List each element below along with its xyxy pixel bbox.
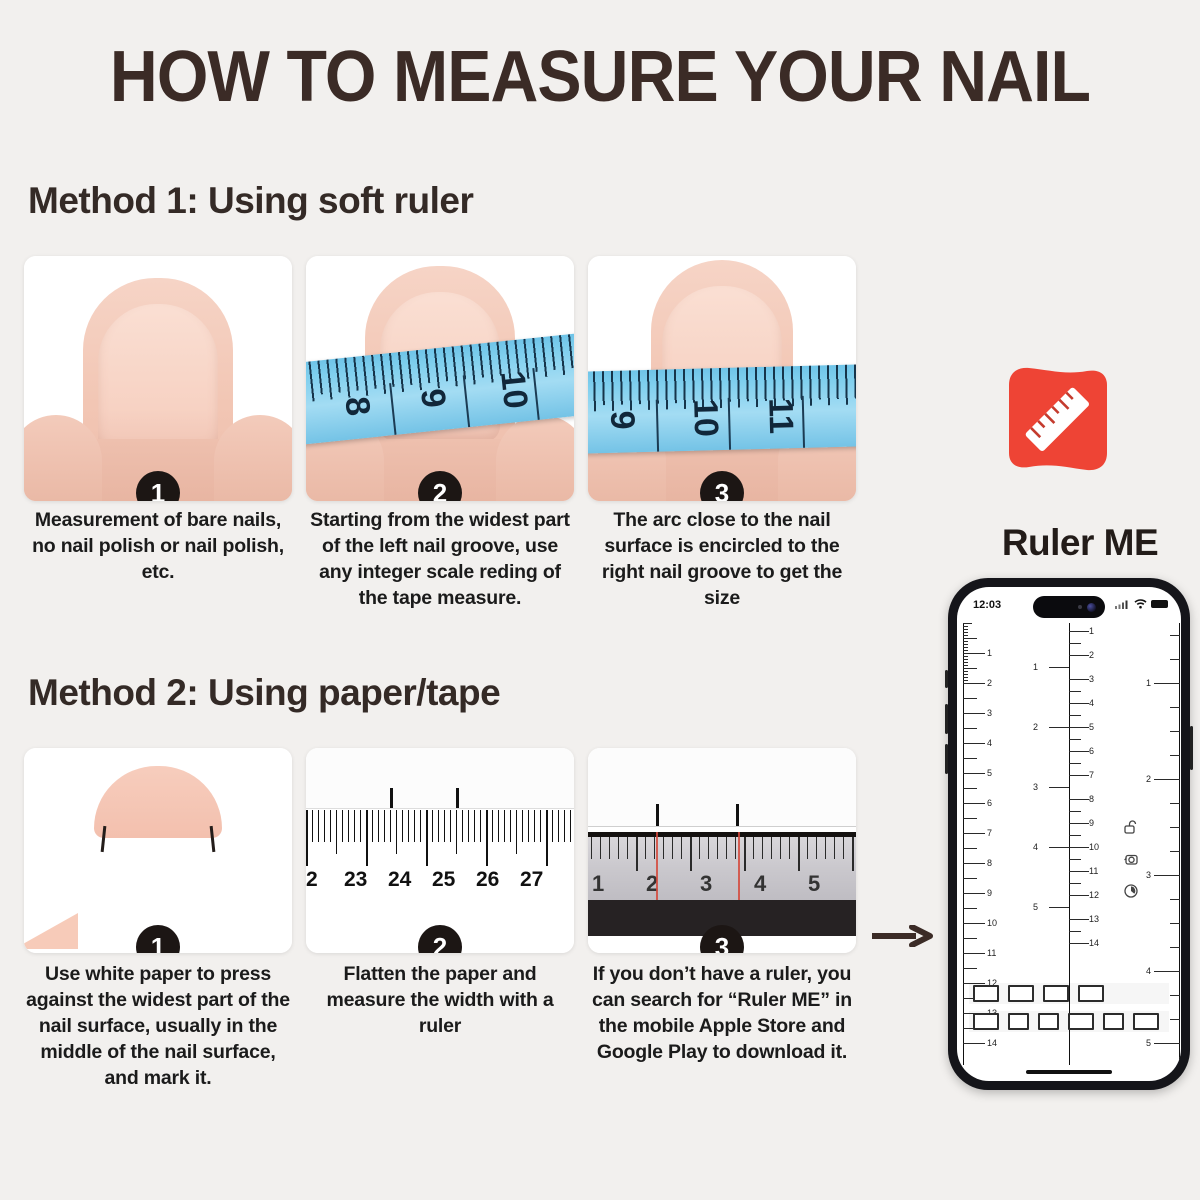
metal-major-ticks — [588, 837, 856, 871]
right-arrow-icon — [872, 925, 936, 947]
tape-number: 8 — [336, 395, 377, 418]
ruler-number: 2 — [306, 868, 318, 892]
measured-chip — [1038, 1013, 1059, 1030]
measured-chip — [1008, 1013, 1029, 1030]
app-tool-icons[interactable] — [1123, 819, 1139, 899]
status-indicators — [1115, 599, 1168, 609]
blue-tape-measure: 9 10 11 — [588, 364, 856, 454]
cellular-signal-icon — [1115, 600, 1130, 609]
method-1-step-2-caption: Starting from the widest part of the lef… — [306, 508, 574, 612]
nail-plate — [98, 304, 218, 454]
metal-ruler: 1 2 3 4 5 — [588, 832, 856, 905]
status-time: 12:03 — [973, 599, 1001, 611]
ruler-spine — [1179, 623, 1180, 1065]
measured-chip — [1103, 1013, 1124, 1030]
method-1-step-3-image-card: 9 10 11 3 — [588, 256, 856, 501]
infographic-page: HOW TO MEASURE YOUR NAIL Method 1: Using… — [0, 0, 1200, 1200]
camera-icon[interactable] — [1123, 851, 1139, 867]
method-1-step-1-caption: Measurement of bare nails, no nail polis… — [24, 508, 292, 612]
method-1-card-row: 1 8 9 10 — [24, 256, 856, 501]
phone-mockup: 12:03 — [948, 578, 1190, 1090]
timer-icon[interactable] — [1123, 883, 1139, 899]
pen-mark — [390, 788, 393, 810]
pen-mark — [456, 788, 459, 810]
ruler-number: 24 — [388, 868, 411, 892]
method-2-step-2-caption: Flatten the paper and measure the width … — [306, 962, 574, 1092]
method-1-step-2-image-card: 8 9 10 2 — [306, 256, 574, 501]
app-name-label: Ruler ME — [960, 522, 1200, 564]
ruler-app-icon[interactable] — [995, 357, 1120, 482]
ruler-number: 25 — [432, 868, 455, 892]
measured-chip — [1043, 985, 1069, 1002]
phone-screen[interactable]: 12:03 — [957, 587, 1181, 1081]
volume-up-button[interactable] — [945, 704, 948, 734]
measured-chip — [1068, 1013, 1094, 1030]
method-1-heading: Method 1: Using soft ruler — [28, 180, 473, 222]
method-1-caption-row: Measurement of bare nails, no nail polis… — [24, 508, 856, 612]
method-2-step-2-image-card: 2 23 24 25 26 27 2 — [306, 748, 574, 953]
home-indicator[interactable] — [1026, 1070, 1112, 1074]
pen-mark — [736, 804, 739, 826]
method-2-step-1-caption: Use white paper to press against the wid… — [24, 962, 292, 1092]
method-2-step-3-caption: If you don’t have a ruler, you can searc… — [588, 962, 856, 1092]
bare-nail-photo — [24, 256, 292, 501]
paper-strip — [588, 748, 856, 827]
method-2-caption-row: Use white paper to press against the wid… — [24, 962, 856, 1092]
nail-impression — [94, 766, 222, 838]
metal-ruler-photo: 1 2 3 4 5 — [588, 748, 856, 953]
tape-number: 11 — [760, 397, 800, 434]
battery-icon — [1151, 600, 1168, 608]
tape-on-thumb-photo: 8 9 10 — [306, 256, 574, 501]
volume-down-button[interactable] — [945, 744, 948, 774]
pen-mark — [656, 804, 659, 826]
method-2-heading: Method 2: Using paper/tape — [28, 672, 500, 714]
tape-wrapped-thumb-photo: 9 10 11 — [588, 256, 856, 501]
ruler-number: 23 — [344, 868, 367, 892]
tape-number: 10 — [685, 399, 725, 438]
tape-number: 9 — [602, 410, 641, 430]
white-paper-photo — [24, 748, 292, 953]
tape-number: 9 — [412, 387, 453, 410]
measured-chip — [1078, 985, 1104, 1002]
dynamic-island — [1033, 596, 1105, 618]
method-1-step-1-image-card: 1 — [24, 256, 292, 501]
ruler-number: 4 — [754, 871, 766, 897]
ruler-number: 3 — [700, 871, 712, 897]
ruler-number: 27 — [520, 868, 543, 892]
page-title: HOW TO MEASURE YOUR NAIL — [48, 36, 1152, 118]
measured-items-row-2 — [969, 1011, 1169, 1032]
finger-corner — [24, 913, 78, 949]
method-1-step-3-caption: The arc close to the nail surface is enc… — [588, 508, 856, 612]
ruler-number: 1 — [592, 871, 604, 897]
method-2-card-row: 1 2 23 24 25 26 27 2 — [24, 748, 856, 953]
measured-items-row-1 — [969, 983, 1169, 1004]
method-2-step-3-image-card: 1 2 3 4 5 3 — [588, 748, 856, 953]
paper-on-ruler-photo: 2 23 24 25 26 27 — [306, 748, 574, 953]
ruler-number: 5 — [808, 871, 820, 897]
unlock-icon[interactable] — [1123, 819, 1139, 835]
measured-chip — [1133, 1013, 1159, 1030]
wifi-icon — [1134, 599, 1147, 609]
method-2-step-1-image-card: 1 — [24, 748, 292, 953]
ruler-major-ticks — [306, 810, 574, 866]
power-button[interactable] — [1190, 726, 1193, 770]
tape-number: 10 — [492, 369, 535, 411]
ruler-number: 26 — [476, 868, 499, 892]
mute-switch[interactable] — [945, 670, 948, 688]
proximity-sensor-icon — [1078, 605, 1082, 609]
measured-chip — [973, 1013, 999, 1030]
measured-chip — [973, 985, 999, 1002]
front-camera-icon — [1087, 603, 1096, 612]
measured-chip — [1008, 985, 1034, 1002]
